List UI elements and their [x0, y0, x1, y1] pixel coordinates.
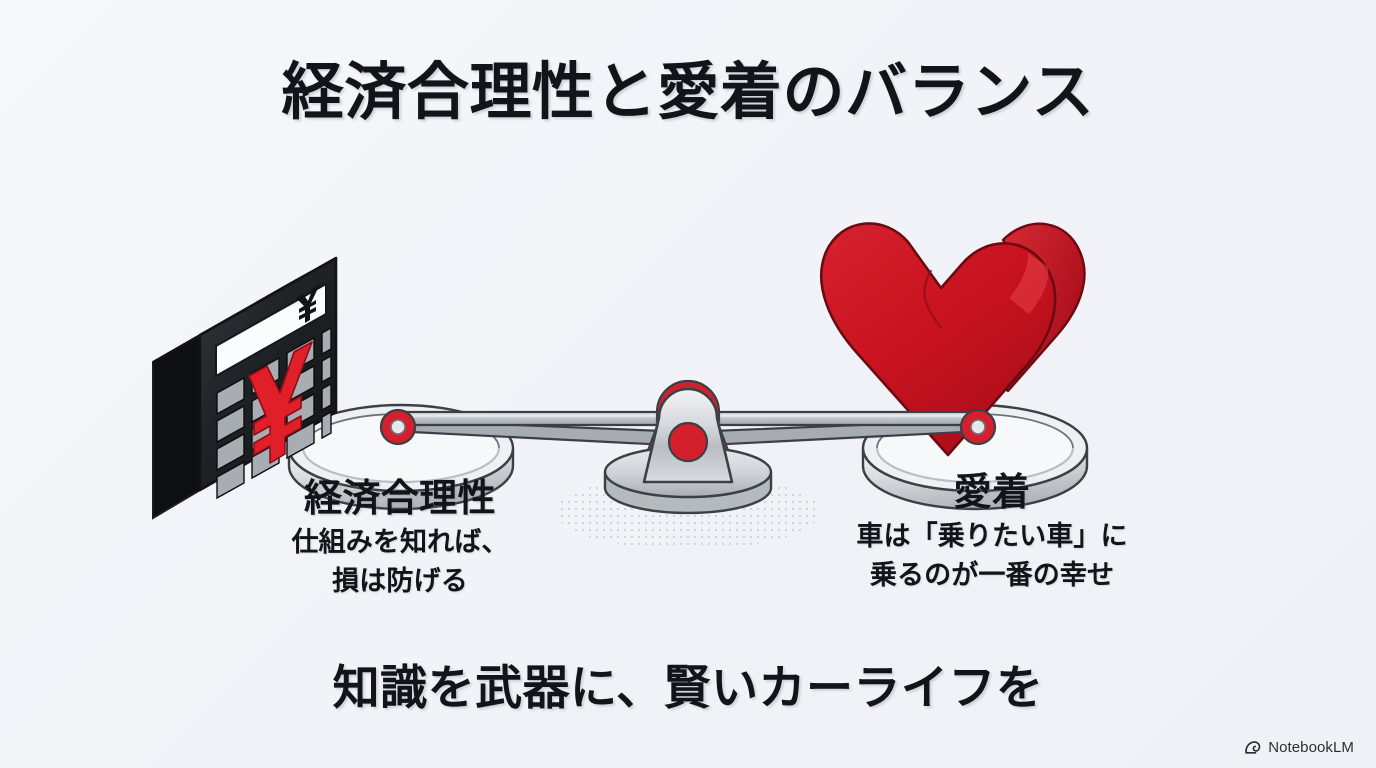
label-right-head: 愛着 — [824, 472, 1160, 515]
page-title: 経済合理性と愛着のバランス — [0, 60, 1376, 125]
balance-scale-illustration — [0, 150, 1376, 570]
left-hinge — [381, 410, 415, 444]
right-hinge — [961, 410, 995, 444]
notebooklm-watermark: NotebookLM — [1244, 739, 1354, 756]
label-right-line2: 乗るのが一番の幸せ — [824, 558, 1160, 594]
tagline: 知識を武器に、賢いカーライフを — [0, 662, 1376, 714]
label-left-line2: 損は防げる — [248, 564, 552, 600]
label-left-line1: 仕組みを知れば、 — [248, 525, 552, 561]
notebooklm-spiral-icon — [1244, 739, 1261, 756]
slide-root: 経済合理性と愛着のバランス — [0, 0, 1376, 768]
label-left: 経済合理性 仕組みを知れば、 損は防げる — [248, 478, 552, 600]
fulcrum — [605, 381, 771, 513]
label-right: 愛着 車は「乗りたい車」に 乗るのが一番の幸せ — [824, 472, 1160, 594]
label-right-line1: 車は「乗りたい車」に — [824, 519, 1160, 555]
notebooklm-label: NotebookLM — [1268, 739, 1354, 756]
label-left-head: 経済合理性 — [248, 478, 552, 521]
